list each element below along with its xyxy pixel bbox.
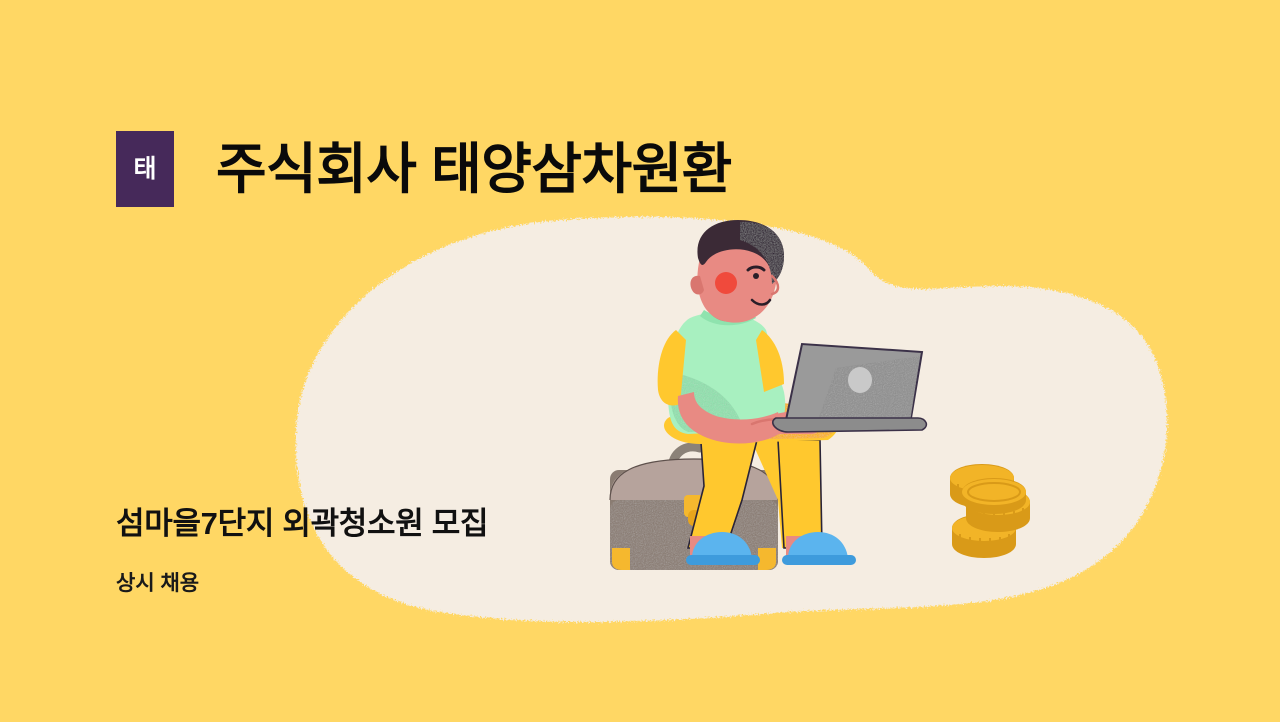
employment-type-label: 상시 채용: [116, 571, 199, 596]
laptop-graphic: [773, 344, 927, 432]
job-posting-title: 섬마을7단지 외곽청소원 모집: [116, 505, 488, 542]
illustration-man-with-laptop: [0, 0, 1280, 722]
company-logo-badge: 태: [116, 131, 174, 207]
coin-stack-graphic: [950, 464, 1030, 558]
background-blob: [0, 0, 1280, 722]
job-posting-banner: 태 주식회사 태양삼차원환 섬마을7단지 외곽청소원 모집 상시 채용: [0, 0, 1280, 722]
torso-graphic: [658, 310, 786, 434]
company-header: 태 주식회사 태양삼차원환: [116, 131, 732, 207]
company-name: 주식회사 태양삼차원환: [216, 142, 732, 197]
head-graphic: [690, 220, 784, 323]
arms-graphic: [678, 392, 823, 444]
shoes-graphic: [686, 532, 856, 565]
legs-graphic: [664, 401, 838, 558]
briefcase-graphic: [610, 447, 778, 570]
